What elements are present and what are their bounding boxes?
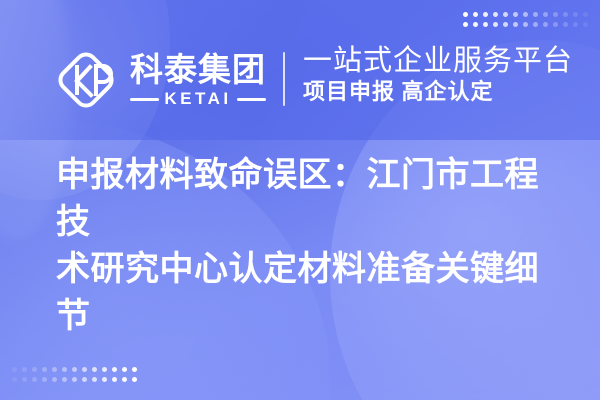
- dot: [553, 22, 558, 27]
- logo-rule-right: [237, 98, 266, 101]
- brand-logo-wordmark: 科泰集团 KETAI: [130, 52, 266, 108]
- dot-grid-bottom-left: [12, 367, 137, 382]
- dot: [52, 367, 57, 372]
- brand-name-en-row: KETAI: [130, 90, 266, 108]
- banner-title-line-2: 术研究中心认定材料准备关键细节: [56, 246, 568, 340]
- dot: [573, 12, 578, 17]
- dot: [503, 12, 508, 17]
- banner-title: 申报材料致命误区：江门市工程技 术研究中心认定材料准备关键细节: [56, 152, 568, 340]
- dot: [122, 367, 127, 372]
- dot: [523, 12, 528, 17]
- dot: [62, 377, 67, 382]
- dot: [112, 367, 117, 372]
- brand-logo[interactable]: 科泰集团 KETAI: [53, 47, 266, 113]
- dot: [22, 377, 27, 382]
- dot: [132, 377, 137, 382]
- dot: [513, 22, 518, 27]
- dot-grid-row: [12, 377, 137, 382]
- dot-grid-row: [12, 367, 137, 372]
- dot: [92, 367, 97, 372]
- dot: [573, 22, 578, 27]
- dot: [533, 22, 538, 27]
- tagline-block: 一站式企业服务平台 项目申报 高企认定: [303, 44, 573, 106]
- dot: [563, 22, 568, 27]
- dot: [72, 377, 77, 382]
- dot: [32, 367, 37, 372]
- dot: [583, 22, 588, 27]
- promo-banner: 科泰集团 KETAI 一站式企业服务平台 项目申报 高企认定 申报材料致命误区：…: [0, 0, 600, 400]
- dot: [62, 367, 67, 372]
- dot: [553, 12, 558, 17]
- dot: [72, 367, 77, 372]
- dot: [132, 367, 137, 372]
- dot: [32, 377, 37, 382]
- dot: [82, 367, 87, 372]
- logo-rule-left: [130, 98, 159, 101]
- dot: [102, 377, 107, 382]
- dot: [122, 377, 127, 382]
- dot: [42, 377, 47, 382]
- dot: [523, 22, 528, 27]
- dot: [473, 12, 478, 17]
- dot: [463, 12, 468, 17]
- tagline-sub: 项目申报 高企认定: [303, 78, 573, 106]
- banner-title-line-1: 申报材料致命误区：江门市工程技: [56, 152, 568, 246]
- dot: [543, 22, 548, 27]
- ketai-kp-monogram-icon: [53, 47, 119, 113]
- dot: [563, 12, 568, 17]
- dot: [503, 22, 508, 27]
- dot-grid-row: [463, 12, 588, 17]
- dot: [12, 377, 17, 382]
- dot: [543, 12, 548, 17]
- dot: [493, 12, 498, 17]
- header-divider: [283, 52, 285, 106]
- dot: [12, 367, 17, 372]
- dot: [102, 367, 107, 372]
- dot: [92, 377, 97, 382]
- dot: [82, 377, 87, 382]
- brand-name-en: KETAI: [164, 90, 231, 108]
- dot: [513, 12, 518, 17]
- dot: [112, 377, 117, 382]
- dot-grid-top-right: [463, 12, 588, 27]
- dot: [52, 377, 57, 382]
- dot: [463, 22, 468, 27]
- dot: [483, 12, 488, 17]
- dot: [483, 22, 488, 27]
- dot-grid-row: [463, 22, 588, 27]
- brand-name-cn: 科泰集团: [130, 52, 266, 88]
- dot: [473, 22, 478, 27]
- dot: [533, 12, 538, 17]
- dot: [493, 22, 498, 27]
- tagline-main: 一站式企业服务平台: [303, 44, 573, 78]
- dot: [583, 12, 588, 17]
- dot: [42, 367, 47, 372]
- dot: [22, 367, 27, 372]
